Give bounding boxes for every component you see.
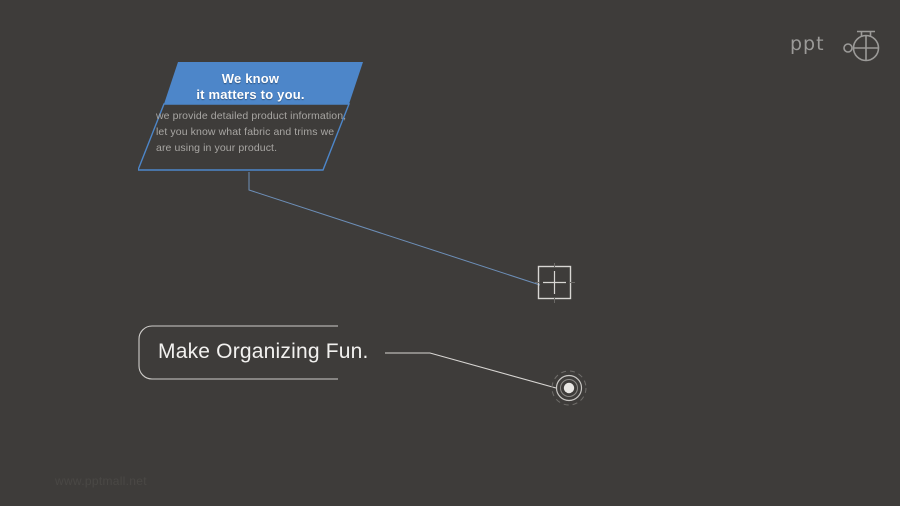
- connector-lines: [0, 0, 900, 506]
- callout-header-shape: [164, 62, 363, 104]
- callout-body-shape: [138, 104, 349, 170]
- headline-group: Make Organizing Fun.: [138, 325, 348, 380]
- headline-text: Make Organizing Fun.: [158, 339, 369, 365]
- watermark: www.pptmall.net: [55, 474, 147, 488]
- add-square-icon[interactable]: [535, 263, 575, 303]
- callout-box: We know it matters to you. we provide de…: [138, 62, 363, 172]
- target-radar-icon[interactable]: [549, 368, 589, 408]
- slide-canvas: ppt: [0, 0, 900, 506]
